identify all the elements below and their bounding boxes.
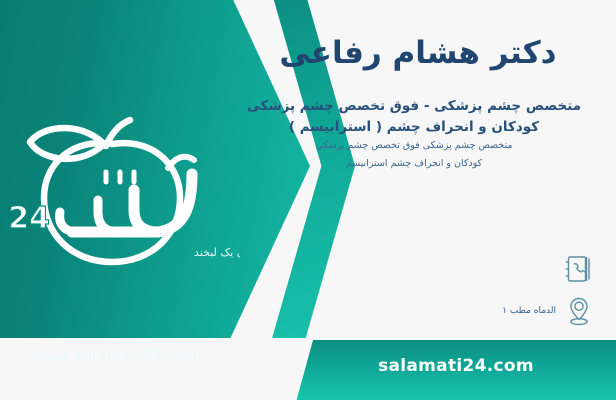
location-pin-icon xyxy=(564,295,594,327)
contact-list: الدماه مطب ۱ xyxy=(444,248,594,332)
contact-row-location[interactable]: الدماه مطب ۱ xyxy=(444,290,594,332)
contact-location-text: الدماه مطب ۱ xyxy=(502,306,556,316)
specialty-small-line-1: متخصص چشم پزشکی فوق تخصص چشم پزشکی xyxy=(226,138,602,153)
logo-24-text: 24 xyxy=(8,201,50,236)
doctor-name: دکتر هشام رفاعی xyxy=(238,36,598,72)
apple-outline-icon: 24 به راحتی یک لبخند xyxy=(8,104,240,272)
logo-tagline: به راحتی یک لبخند xyxy=(194,246,240,259)
logo-url-text: www.salamati24.com xyxy=(8,347,226,365)
phone-book-icon xyxy=(564,253,594,285)
logo-24-badge: 24 xyxy=(8,201,50,236)
contact-row-phone[interactable] xyxy=(444,248,594,290)
footer-url[interactable]: salamati24.com xyxy=(296,356,616,376)
business-card: 24 به راحتی یک لبخند www.salamati24.com … xyxy=(0,0,616,400)
specialty-line-1: متخصص چشم پزشکی - فوق تخصص چشم پزشکی xyxy=(226,96,602,117)
salamati24-logo: 24 به راحتی یک لبخند www.salamati24.com xyxy=(8,104,240,272)
specialty-line-2: کودکان و انحراف چشم ( استرابیسم ) xyxy=(226,117,602,138)
specialty-block: متخصص چشم پزشکی - فوق تخصص چشم پزشکی کود… xyxy=(226,96,602,171)
specialty-small-line-2: کودکان و انحراف چشم استرابیسم xyxy=(226,156,602,171)
